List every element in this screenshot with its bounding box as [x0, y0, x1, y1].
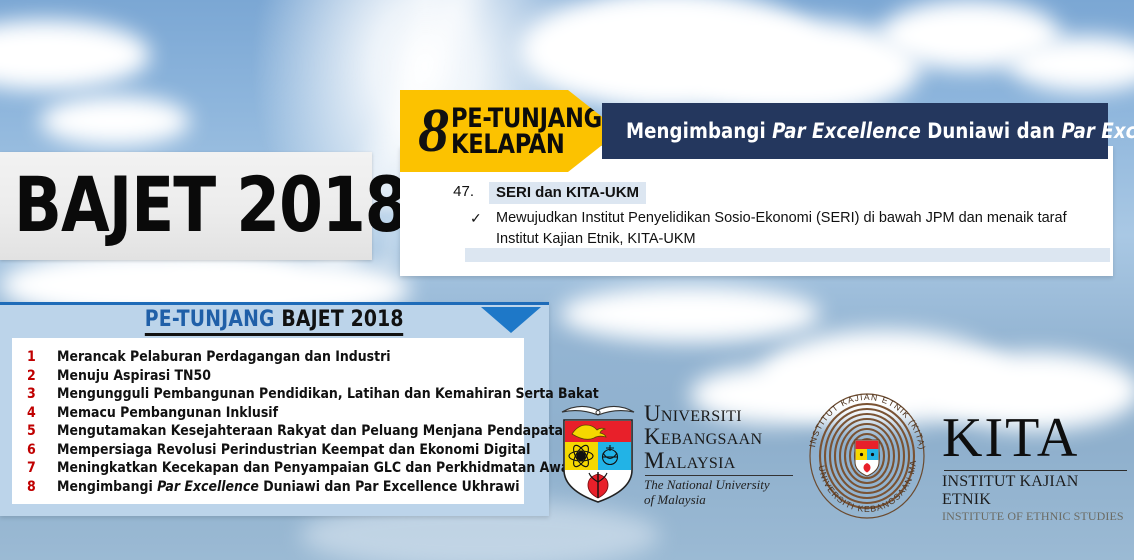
ukm-wordmark: UNIVERSITI KEBANGSAAN MALAYSIA The Natio… — [644, 402, 793, 507]
pillar-text: Memacu Pembangunan Inklusif — [57, 405, 278, 421]
panel-top-rule — [0, 302, 549, 305]
pillars-panel: PE-TUNJANG BAJET 2018 1Merancak Pelabura… — [0, 302, 549, 516]
list-item: 1Merancak Pelaburan Perdagangan dan Indu… — [12, 349, 524, 368]
pillar-index: 8 — [12, 479, 57, 495]
pillar-label-line1: PE-TUNJANG — [451, 106, 602, 132]
pillars-list: 1Merancak Pelaburan Perdagangan dan Indu… — [12, 338, 524, 497]
pillar-text: Menuju Aspirasi TN50 — [57, 368, 211, 384]
page-title: BAJET 2018 — [14, 148, 354, 262]
pillar-index: 2 — [12, 368, 57, 384]
ukm-crest-icon — [556, 398, 642, 508]
list-item: 7Meningkatkan Kecekapan dan Penyampaian … — [12, 460, 524, 479]
pillar-text: Mengungguli Pembangunan Pendidikan, Lati… — [57, 386, 599, 402]
ukm-subtitle-1: The National University — [644, 478, 793, 493]
item-number: 47. — [440, 182, 474, 200]
item-title: SERI dan KITA-UKM — [489, 182, 646, 204]
pillar-label: PE-TUNJANG KELAPAN — [451, 106, 602, 157]
pillar-index: 3 — [12, 386, 57, 402]
ukm-line-1: UNIVERSITI — [644, 402, 793, 425]
cloud-icon — [560, 286, 820, 342]
kita-logo: INSTITUT KAJIAN ETNIK (KITA) UNIVERSITI … — [806, 392, 1126, 520]
list-item: 6Mempersiaga Revolusi Perindustrian Keem… — [12, 442, 524, 461]
ukm-cap-m: M — [644, 448, 665, 473]
pillar-heading-text: Mengimbangi Par Excellence Duniawi dan P… — [626, 119, 1134, 143]
ukm-rest-2: EBANGSAAN — [661, 431, 762, 448]
pillar-text-post: Duniawi dan Par Excellence Ukhrawi — [259, 479, 520, 495]
pillar-index: 5 — [12, 423, 57, 439]
pillar-text-italic: Par Excellence — [157, 479, 259, 495]
kita-divider — [944, 470, 1127, 471]
kita-subtitle-1: INSTITUT KAJIAN ETNIK — [942, 473, 1127, 509]
pillar-heading-bar: Mengimbangi Par Excellence Duniawi dan P… — [602, 103, 1108, 159]
ukm-subtitle-2: of Malaysia — [644, 493, 793, 508]
ukm-logo: UNIVERSITI KEBANGSAAN MALAYSIA The Natio… — [556, 398, 806, 518]
pillar-text: Mengutamakan Kesejahteraan Rakyat dan Pe… — [57, 423, 572, 439]
ukm-line-2: KEBANGSAAN — [644, 425, 793, 448]
bullet-item: ✓ Mewujudkan Institut Penyelidikan Sosio… — [470, 208, 1090, 250]
list-item: 2Menuju Aspirasi TN50 — [12, 368, 524, 387]
bullet-text: Mewujudkan Institut Penyelidikan Sosio-E… — [496, 208, 1090, 250]
panel-header-black: BAJET 2018 — [282, 307, 404, 332]
ukm-divider — [645, 475, 793, 476]
heading-italic-1: Par Excellence — [772, 119, 921, 143]
list-item: 5Mengutamakan Kesejahteraan Rakyat dan P… — [12, 423, 524, 442]
ukm-rest-3: ALAYSIA — [665, 455, 736, 472]
chevron-shape: 8 PE-TUNJANG KELAPAN — [400, 90, 620, 172]
pillar-number: 8 — [418, 105, 449, 158]
pillar-text: Meningkatkan Kecekapan dan Penyampaian G… — [57, 460, 582, 476]
panel-header-blue: PE-TUNJANG — [145, 307, 282, 332]
list-item: 3Mengungguli Pembangunan Pendidikan, Lat… — [12, 386, 524, 405]
list-item: 4 Memacu Pembangunan Inklusif — [12, 405, 524, 424]
pillar-text-pre: Mengimbangi — [57, 479, 157, 495]
pillar-label-line2: KELAPAN — [451, 132, 602, 158]
slide-canvas: BAJET 2018 8 PE-TUNJANG KELAPAN Mengimba… — [0, 0, 1134, 560]
pillar-text: Mempersiaga Revolusi Perindustrian Keemp… — [57, 442, 530, 458]
list-item: 47. SERI dan KITA-UKM — [440, 182, 1100, 204]
pillar-text: Mengimbangi Par Excellence Duniawi dan P… — [57, 479, 520, 495]
pillar-chevron: 8 PE-TUNJANG KELAPAN — [400, 90, 620, 172]
content-card-bottom-band — [465, 248, 1110, 262]
panel-header-text: PE-TUNJANG BAJET 2018 — [145, 307, 404, 336]
pillar-text: Merancak Pelaburan Perdagangan dan Indus… — [57, 349, 391, 365]
ukm-cap-k: K — [644, 424, 661, 449]
ukm-cap-u: U — [644, 401, 661, 426]
heading-middle: Duniawi dan — [921, 119, 1062, 143]
kita-wordmark: KITA INSTITUT KAJIAN ETNIK INSTITUTE OF … — [942, 410, 1127, 524]
ukm-line-3: MALAYSIA — [644, 449, 793, 472]
ukm-rest-1: NIVERSITI — [661, 408, 742, 425]
check-mark-icon: ✓ — [470, 208, 496, 227]
heading-italic-2: Par Excellence — [1061, 119, 1134, 143]
list-item: 8Mengimbangi Par Excellence Duniawi dan … — [12, 479, 524, 498]
heading-prefix: Mengimbangi — [626, 119, 772, 143]
kita-title: KITA — [942, 410, 1127, 466]
pillar-index: 7 — [12, 460, 57, 476]
panel-body: 1Merancak Pelaburan Perdagangan dan Indu… — [12, 338, 524, 504]
panel-header: PE-TUNJANG BAJET 2018 — [0, 306, 549, 336]
pillar-index: 1 — [12, 349, 57, 365]
pillar-index: 6 — [12, 442, 57, 458]
kita-subtitle-2: INSTITUTE OF ETHNIC STUDIES — [942, 509, 1127, 524]
cloud-icon — [40, 96, 190, 146]
pillar-index: 4 — [12, 405, 57, 421]
kita-seal-icon: INSTITUT KAJIAN ETNIK (KITA) UNIVERSITI … — [806, 392, 928, 520]
